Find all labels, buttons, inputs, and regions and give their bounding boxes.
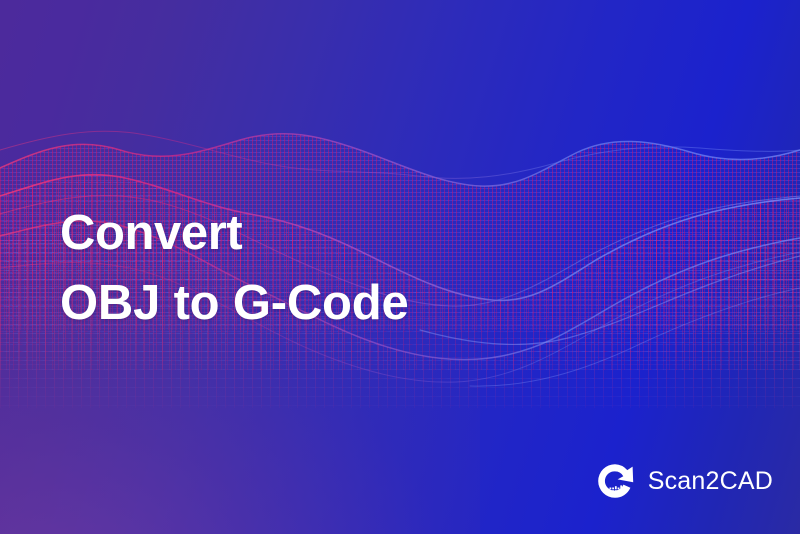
- headline-line-2: OBJ to G-Code: [60, 268, 409, 338]
- logo-text: Scan2CAD: [648, 469, 773, 494]
- circular-arrow-icon: [594, 460, 636, 502]
- headline-line-1: Convert: [60, 198, 409, 268]
- marketing-banner: Convert OBJ to G-Code: [0, 0, 800, 534]
- headline-block: Convert OBJ to G-Code: [60, 198, 409, 338]
- scan2cad-logo[interactable]: Scan2CAD: [594, 460, 773, 502]
